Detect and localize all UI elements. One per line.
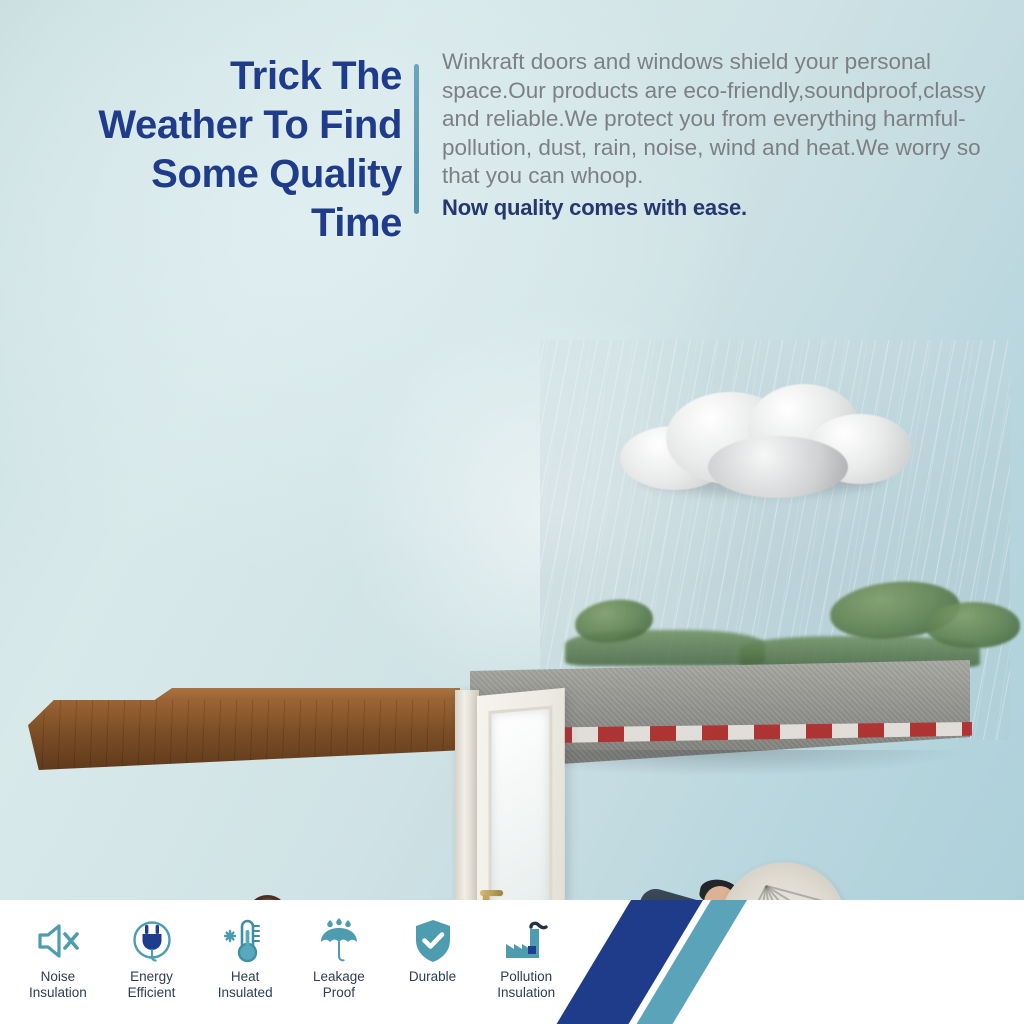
tagline: Now quality comes with ease. bbox=[442, 194, 998, 223]
storm-cloud-icon bbox=[612, 382, 912, 497]
wood-floor-platform bbox=[28, 700, 458, 770]
feature-pollution-insulation[interactable]: PollutionInsulation bbox=[480, 918, 572, 1000]
feature-label: EnergyEfficient bbox=[128, 969, 176, 1000]
feature-list: NoiseInsulation EnergyEfficient bbox=[12, 918, 572, 1018]
feature-heat-insulated[interactable]: HeatInsulated bbox=[199, 918, 291, 1000]
feature-label: LeakageProof bbox=[313, 969, 365, 1000]
feature-noise-insulation[interactable]: NoiseInsulation bbox=[12, 918, 104, 1000]
headline-line-2: Weather To Find bbox=[30, 101, 402, 150]
page-title: Trick The Weather To Find Some Quality T… bbox=[30, 52, 402, 248]
windblown-tree bbox=[926, 602, 1020, 648]
vertical-divider bbox=[414, 64, 419, 214]
feature-leakage-proof[interactable]: LeakageProof bbox=[293, 918, 385, 1000]
headline-line-3: Some Quality bbox=[30, 150, 402, 199]
feature-label: Durable bbox=[409, 969, 456, 985]
feature-bar: NoiseInsulation EnergyEfficient bbox=[0, 900, 1024, 1024]
hero-scene bbox=[0, 330, 1024, 790]
pollution-insulation-icon bbox=[501, 918, 551, 964]
body-copy: Winkraft doors and windows shield your p… bbox=[442, 48, 998, 222]
feature-label: HeatInsulated bbox=[218, 969, 273, 1000]
feature-durable[interactable]: Durable bbox=[387, 918, 479, 985]
body-paragraph: Winkraft doors and windows shield your p… bbox=[442, 49, 986, 188]
feature-label: PollutionInsulation bbox=[497, 969, 555, 1000]
leakage-proof-icon bbox=[315, 918, 363, 964]
heat-insulated-icon bbox=[221, 918, 269, 964]
feature-label: NoiseInsulation bbox=[29, 969, 87, 1000]
durable-icon bbox=[412, 918, 454, 964]
noise-insulation-icon bbox=[36, 918, 80, 964]
advertisement-poster: Trick The Weather To Find Some Quality T… bbox=[0, 0, 1024, 1024]
feature-energy-efficient[interactable]: EnergyEfficient bbox=[106, 918, 198, 1000]
energy-efficient-icon bbox=[129, 918, 175, 964]
headline-line-1: Trick The bbox=[30, 52, 402, 101]
headline-line-4: Time bbox=[30, 199, 402, 248]
